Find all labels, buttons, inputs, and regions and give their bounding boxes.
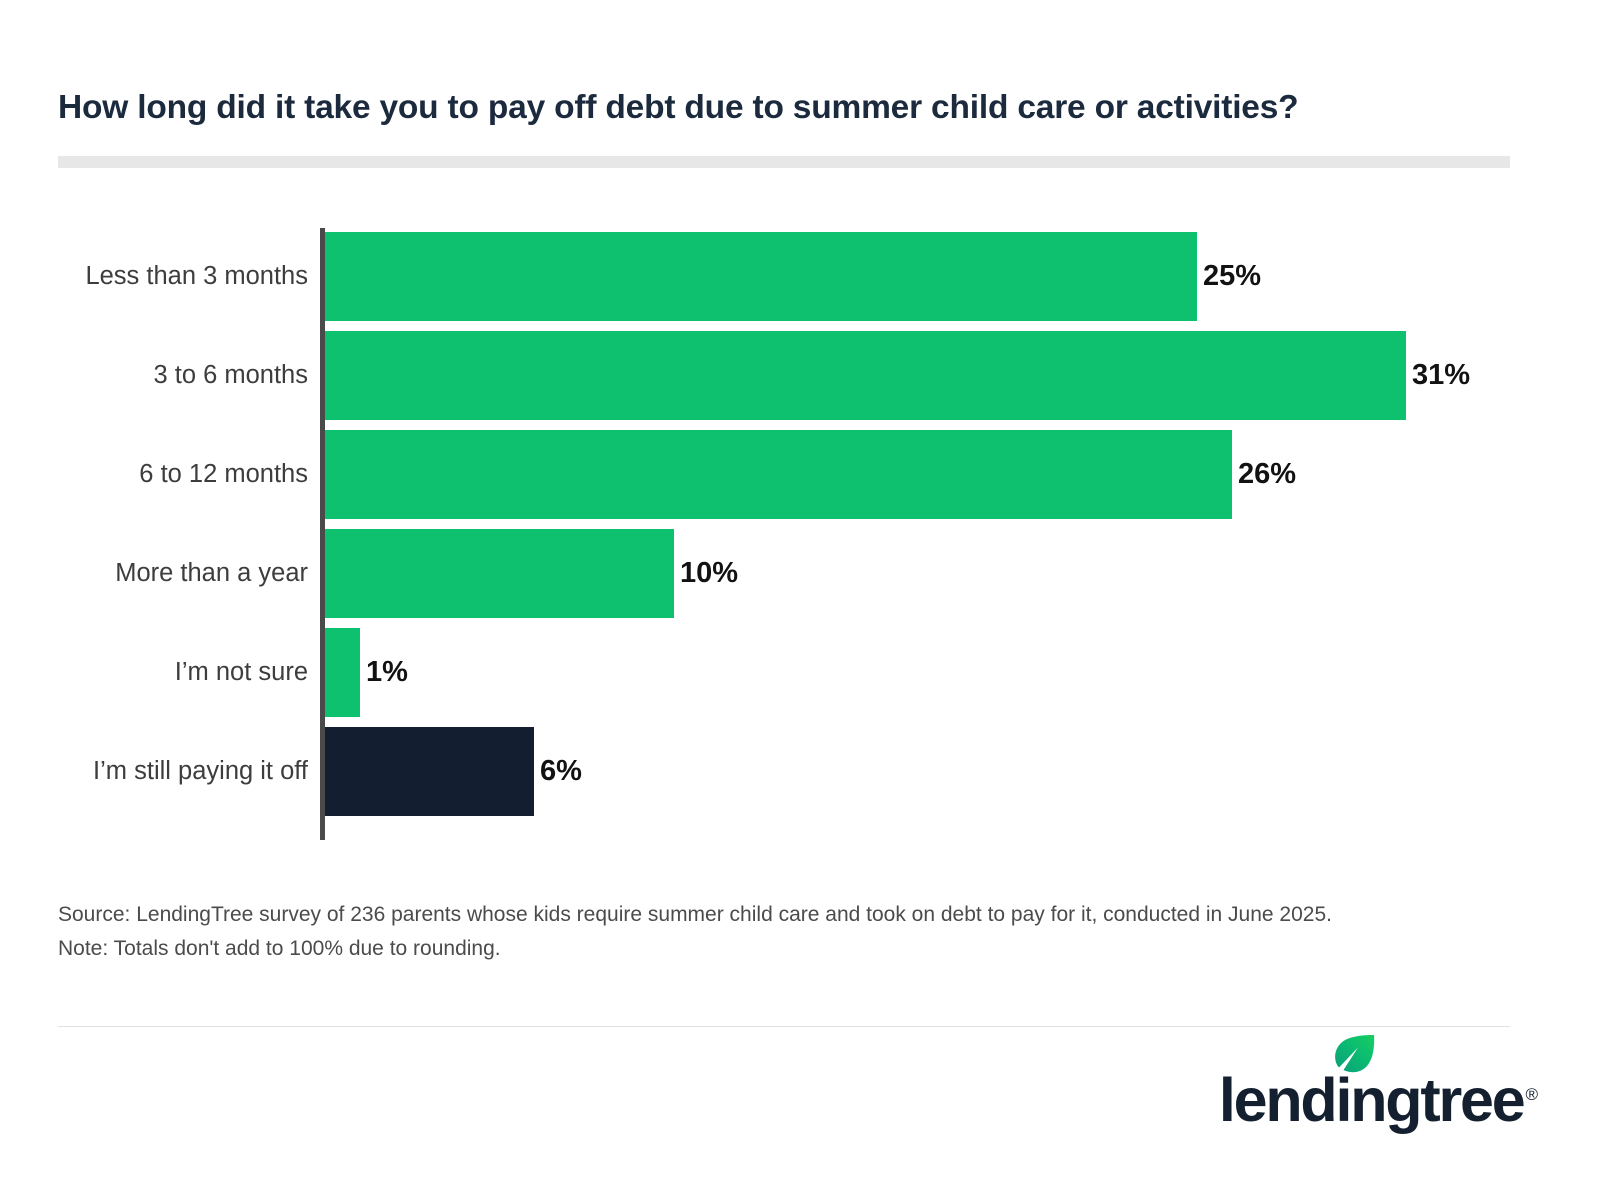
bar-group: 1%: [325, 628, 408, 717]
category-label: Less than 3 months: [58, 228, 308, 325]
bar-value-label: 10%: [680, 559, 738, 588]
page-title: How long did it take you to pay off debt…: [58, 88, 1528, 128]
bar-value-label: 31%: [1412, 361, 1470, 390]
bar-row: I’m still paying it off 6%: [58, 723, 1528, 820]
leaf-icon: [1330, 1033, 1376, 1079]
category-label: 3 to 6 months: [58, 327, 308, 424]
bar-segment: [325, 331, 1406, 420]
lendingtree-logo: lendingtree®: [1219, 1056, 1538, 1128]
source-text: Source: LendingTree survey of 236 parent…: [58, 898, 1518, 932]
bar-segment: [325, 529, 674, 618]
bar-segment: [325, 628, 360, 717]
bar-segment: [325, 232, 1197, 321]
chart-page: How long did it take you to pay off debt…: [0, 0, 1600, 1194]
footer-divider: [58, 1026, 1510, 1027]
bar-value-label: 25%: [1203, 262, 1261, 291]
title-divider: [58, 156, 1510, 168]
bar-chart: Less than 3 months 25% 3 to 6 months 31%…: [58, 228, 1528, 840]
bar-value-label: 1%: [366, 658, 408, 687]
logo-wordmark: lendingtree®: [1219, 1072, 1538, 1128]
bar-group: 31%: [325, 331, 1470, 420]
bar-row: Less than 3 months 25%: [58, 228, 1528, 325]
category-label: More than a year: [58, 525, 308, 622]
bar-row: 6 to 12 months 26%: [58, 426, 1528, 523]
bar-value-label: 6%: [540, 757, 582, 786]
category-label: I’m still paying it off: [58, 723, 308, 820]
bar-row: 3 to 6 months 31%: [58, 327, 1528, 424]
bar-group: 6%: [325, 727, 582, 816]
bar-value-label: 26%: [1238, 460, 1296, 489]
bar-group: 26%: [325, 430, 1296, 519]
note-text: Note: Totals don't add to 100% due to ro…: [58, 932, 1518, 966]
bar-group: 10%: [325, 529, 738, 618]
category-label: 6 to 12 months: [58, 426, 308, 523]
footnotes: Source: LendingTree survey of 236 parent…: [58, 898, 1518, 966]
bar-row: I’m not sure 1%: [58, 624, 1528, 721]
bar-segment: [325, 727, 534, 816]
bar-row: More than a year 10%: [58, 525, 1528, 622]
category-label: I’m not sure: [58, 624, 308, 721]
registered-trademark-icon: ®: [1525, 1085, 1538, 1104]
bar-segment: [325, 430, 1232, 519]
bar-group: 25%: [325, 232, 1261, 321]
